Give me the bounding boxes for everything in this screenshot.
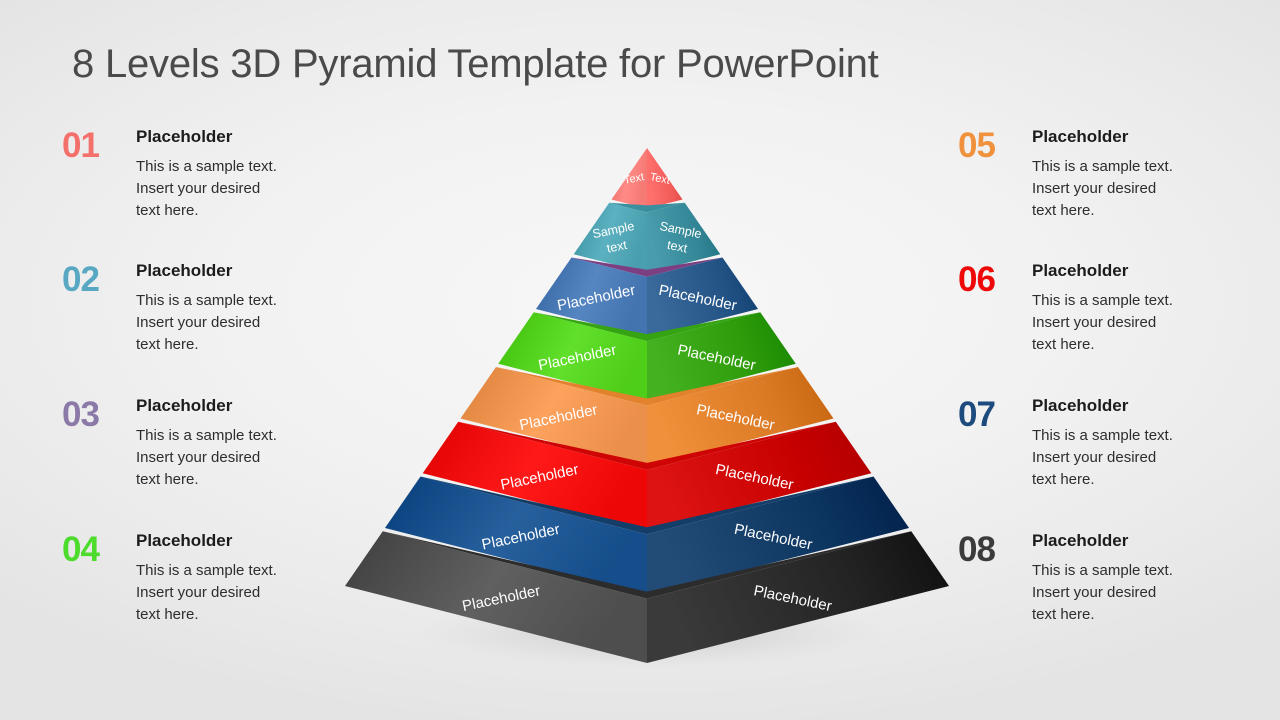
item-heading: Placeholder [1032, 532, 1258, 551]
list-item[interactable]: 07 Placeholder This is a sample text. In… [958, 397, 1258, 527]
item-number: 04 [62, 532, 132, 567]
pyramid-diagram: TextTextSampletextSampletextPlaceholderP… [300, 120, 1000, 700]
tier-face-left [611, 148, 647, 209]
pyramid-tiers: TextTextSampletextSampletextPlaceholderP… [345, 148, 949, 663]
slide-canvas: 8 Levels 3D Pyramid Template for PowerPo… [0, 0, 1280, 720]
item-body: Placeholder This is a sample text. Inser… [1032, 262, 1258, 356]
list-item[interactable]: 06 Placeholder This is a sample text. In… [958, 262, 1258, 392]
item-body: Placeholder This is a sample text. Inser… [1032, 128, 1258, 222]
item-heading: Placeholder [1032, 128, 1258, 147]
item-description: This is a sample text. Insert your desir… [1032, 290, 1258, 357]
list-item[interactable]: 05 Placeholder This is a sample text. In… [958, 128, 1258, 258]
pyramid-svg: TextTextSampletextSampletextPlaceholderP… [300, 120, 1000, 700]
item-description: This is a sample text. Insert your desir… [1032, 425, 1258, 492]
tier-face-right [647, 148, 683, 209]
item-number: 01 [62, 128, 132, 163]
list-item[interactable]: 08 Placeholder This is a sample text. In… [958, 532, 1258, 662]
pyramid-tier[interactable]: TextText [611, 148, 682, 209]
item-number: 02 [62, 262, 132, 297]
item-description: This is a sample text. Insert your desir… [1032, 156, 1258, 223]
item-body: Placeholder This is a sample text. Inser… [1032, 397, 1258, 491]
page-title: 8 Levels 3D Pyramid Template for PowerPo… [72, 42, 879, 87]
item-heading: Placeholder [1032, 262, 1258, 281]
item-heading: Placeholder [1032, 397, 1258, 416]
item-number: 03 [62, 397, 132, 432]
item-description: This is a sample text. Insert your desir… [1032, 560, 1258, 627]
item-body: Placeholder This is a sample text. Inser… [1032, 532, 1258, 626]
